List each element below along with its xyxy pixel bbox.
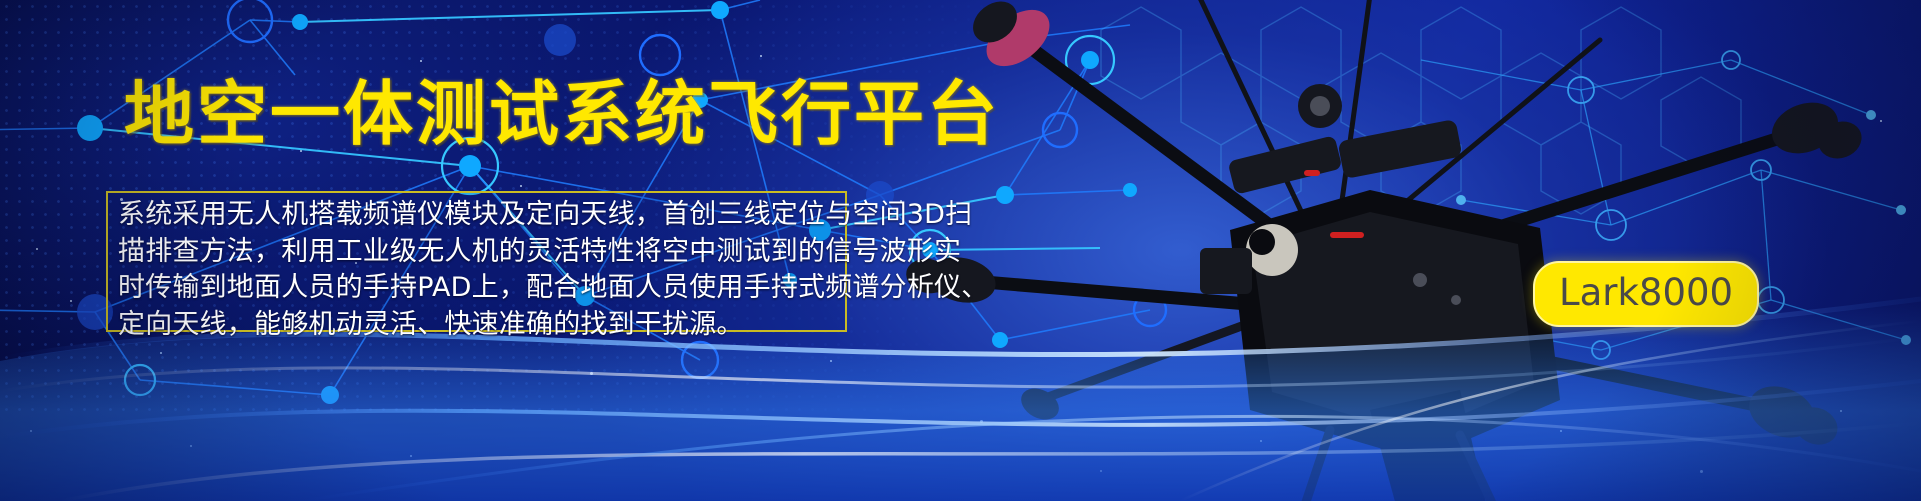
description-line-2: 描排查方法，利用工业级无人机的灵活特性将空中测试到的信号波形实 — [108, 234, 845, 271]
description-line-4: 定向天线，能够机动灵活、快速准确的找到干扰源。 — [108, 307, 845, 344]
page-title: 地空一体测试系统飞行平台 — [124, 78, 1000, 150]
description-box: 系统采用无人机搭载频谱仪模块及定向天线，首创三线定位与空间3D扫 描排查方法，利… — [106, 191, 847, 332]
description-line-1: 系统采用无人机搭载频谱仪模块及定向天线，首创三线定位与空间3D扫 — [108, 193, 845, 234]
product-badge: Lark8000 — [1533, 261, 1759, 327]
description-line-3: 时传输到地面人员的手持PAD上，配合地面人员使用手持式频谱分析仪、 — [108, 270, 845, 307]
promo-banner: 地空一体测试系统飞行平台 系统采用无人机搭载频谱仪模块及定向天线，首创三线定位与… — [0, 0, 1921, 501]
